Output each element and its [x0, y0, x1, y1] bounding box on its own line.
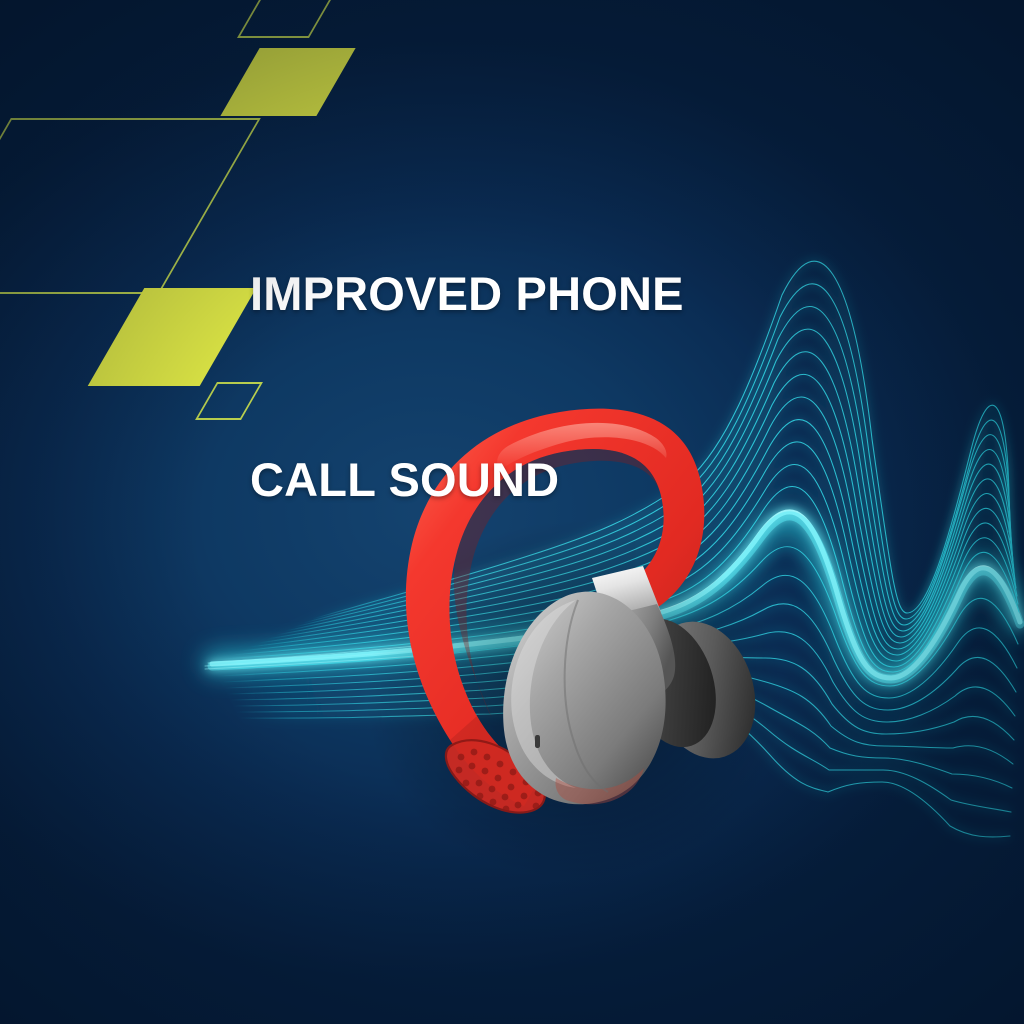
promo-banner: IMPROVED PHONE CALL SOUND	[0, 0, 1024, 1024]
page-title: IMPROVED PHONE CALL SOUND	[250, 139, 790, 635]
headline-line-1: IMPROVED PHONE	[250, 263, 790, 325]
microphone-hole	[535, 735, 540, 748]
headline-line-2: CALL SOUND	[250, 449, 790, 511]
